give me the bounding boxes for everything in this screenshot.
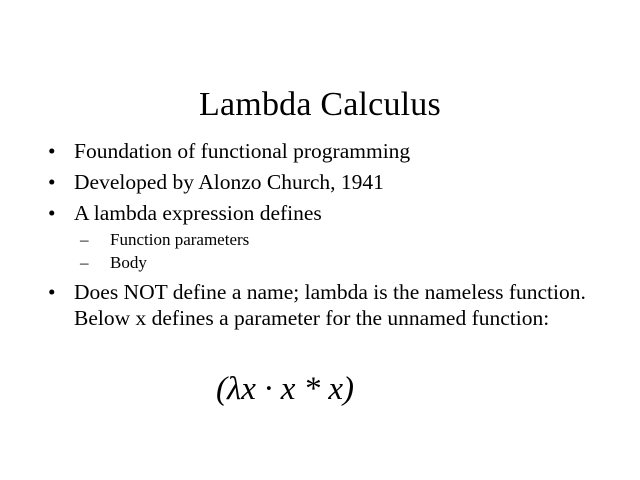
bullet-text: Developed by Alonzo Church, 1941: [74, 169, 598, 195]
bullet-marker-icon: •: [48, 200, 62, 226]
bullet-list: • Foundation of functional programming •…: [42, 138, 598, 331]
sub-bullet-list: – Function parameters – Body: [74, 228, 598, 274]
sub-bullet-text: Body: [110, 251, 598, 274]
dash-marker-icon: –: [80, 251, 96, 274]
sub-bullet-item: – Function parameters: [80, 228, 598, 251]
slide-body: • Foundation of functional programming •…: [42, 138, 598, 336]
bullet-marker-icon: •: [48, 169, 62, 195]
bullet-text: A lambda expression defines: [74, 200, 598, 226]
dash-marker-icon: –: [80, 228, 96, 251]
bullet-marker-icon: •: [48, 138, 62, 164]
bullet-item: • Developed by Alonzo Church, 1941: [42, 169, 598, 195]
slide: Lambda Calculus • Foundation of function…: [0, 0, 640, 480]
sub-bullet-text: Function parameters: [110, 228, 598, 251]
bullet-marker-icon: •: [48, 279, 62, 305]
bullet-text: Foundation of functional programming: [74, 138, 598, 164]
bullet-item: • Does NOT define a name; lambda is the …: [42, 279, 598, 331]
slide-title: Lambda Calculus: [0, 85, 640, 125]
bullet-text: Does NOT define a name; lambda is the na…: [74, 279, 598, 331]
bullet-item: • Foundation of functional programming: [42, 138, 598, 164]
sub-bullet-item: – Body: [80, 251, 598, 274]
lambda-expression: (λx · x * x): [0, 368, 570, 410]
bullet-item: • A lambda expression defines – Function…: [42, 200, 598, 274]
